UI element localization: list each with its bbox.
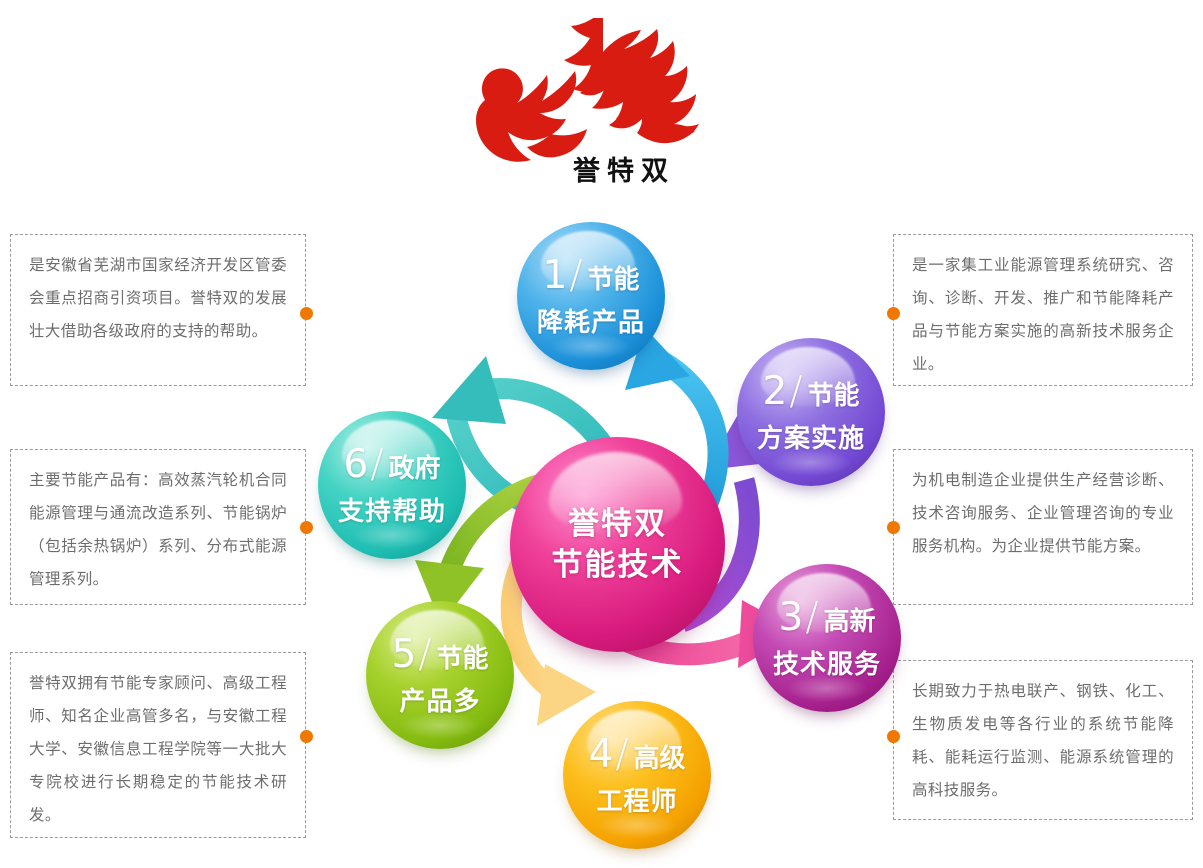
sphere-4-line-2: 工程师 <box>596 781 677 818</box>
info-box-left-1: 是安徽省芜湖市国家经济开发区管委会重点招商引资项目。誉特双的发展壮大借助各级政府… <box>10 234 306 386</box>
sphere-5-slash: / <box>418 632 431 677</box>
sphere-3-title-part: 高新 <box>823 601 875 638</box>
sphere-1-energy-saving-products[interactable]: 1 / 节能 降耗产品 <box>517 222 665 370</box>
connector-dot-right-1 <box>887 307 900 320</box>
sphere-3-number: 3 <box>779 595 804 640</box>
connector-dot-left-1 <box>300 307 313 320</box>
info-box-left-3: 誉特双拥有节能专家顾问、高级工程师、知名企业高管多名，与安徽工程大学、安徽信息工… <box>10 652 306 838</box>
sphere-1-line-2: 降耗产品 <box>537 302 645 339</box>
sphere-3-line-2: 技术服务 <box>773 644 881 681</box>
info-box-left-3-text: 誉特双拥有节能专家顾问、高级工程师、知名企业高管多名，与安徽工程大学、安徽信息工… <box>29 667 287 832</box>
info-box-right-3: 长期致力于热电联产、钢铁、化工、生物质发电等各行业的系统节能降耗、能耗运行监测、… <box>893 660 1193 820</box>
info-box-right-2: 为机电制造企业提供生产经营诊断、技术咨询服务、企业管理咨询的专业服务机构。为企业… <box>893 449 1193 605</box>
center-sphere[interactable]: 誉特双 节能技术 <box>510 437 725 652</box>
connector-dot-right-3 <box>887 730 900 743</box>
sphere-2-solution-implementation[interactable]: 2 / 节能 方案实施 <box>737 338 885 486</box>
sphere-1-title-part: 节能 <box>587 259 639 296</box>
sphere-5-number: 5 <box>392 632 417 677</box>
sphere-1-slash: / <box>569 253 582 298</box>
info-box-right-1: 是一家集工业能源管理系统研究、咨询、诊断、开发、推广和节能降耗产品与节能方案实施… <box>893 234 1193 386</box>
sphere-5-title-part: 节能 <box>436 638 488 675</box>
sphere-4-senior-engineers[interactable]: 4 / 高级 工程师 <box>563 701 711 849</box>
infographic-canvas: 誉特双 <box>0 0 1203 868</box>
info-box-left-2-text: 主要节能产品有：高效蒸汽轮机合同能源管理与通流改造系列、节能锅炉（包括余热锅炉）… <box>29 464 287 596</box>
sphere-6-number: 6 <box>344 442 369 487</box>
info-box-left-1-text: 是安徽省芜湖市国家经济开发区管委会重点招商引资项目。誉特双的发展壮大借助各级政府… <box>29 249 287 348</box>
sphere-4-title-part: 高级 <box>633 738 685 775</box>
info-box-right-2-text: 为机电制造企业提供生产经营诊断、技术咨询服务、企业管理咨询的专业服务机构。为企业… <box>912 464 1174 563</box>
info-box-left-2: 主要节能产品有：高效蒸汽轮机合同能源管理与通流改造系列、节能锅炉（包括余热锅炉）… <box>10 449 306 605</box>
sphere-4-number: 4 <box>589 732 614 777</box>
sphere-2-slash: / <box>789 369 802 414</box>
sphere-5-many-products[interactable]: 5 / 节能 产品多 <box>366 601 514 749</box>
sphere-2-number: 2 <box>763 369 788 414</box>
sphere-6-government-support[interactable]: 6 / 政府 支持帮助 <box>318 411 466 559</box>
connector-dot-right-2 <box>887 521 900 534</box>
sphere-6-line-2: 支持帮助 <box>338 491 446 528</box>
sphere-6-title-part: 政府 <box>388 448 440 485</box>
center-sphere-line-2: 节能技术 <box>552 545 684 586</box>
sphere-3-slash: / <box>805 595 818 640</box>
sphere-2-title-part: 节能 <box>807 375 859 412</box>
center-sphere-line-1: 誉特双 <box>568 504 667 545</box>
sphere-5-line-2: 产品多 <box>399 681 480 718</box>
info-box-right-3-text: 长期致力于热电联产、钢铁、化工、生物质发电等各行业的系统节能降耗、能耗运行监测、… <box>912 675 1174 807</box>
info-box-right-1-text: 是一家集工业能源管理系统研究、咨询、诊断、开发、推广和节能降耗产品与节能方案实施… <box>912 249 1174 381</box>
sphere-4-slash: / <box>615 732 628 777</box>
connector-dot-left-3 <box>300 730 313 743</box>
sphere-2-line-2: 方案实施 <box>757 418 865 455</box>
sphere-3-high-tech-service[interactable]: 3 / 高新 技术服务 <box>753 564 901 712</box>
sphere-1-number: 1 <box>543 253 568 298</box>
connector-dot-left-2 <box>300 521 313 534</box>
sphere-6-slash: / <box>370 442 383 487</box>
